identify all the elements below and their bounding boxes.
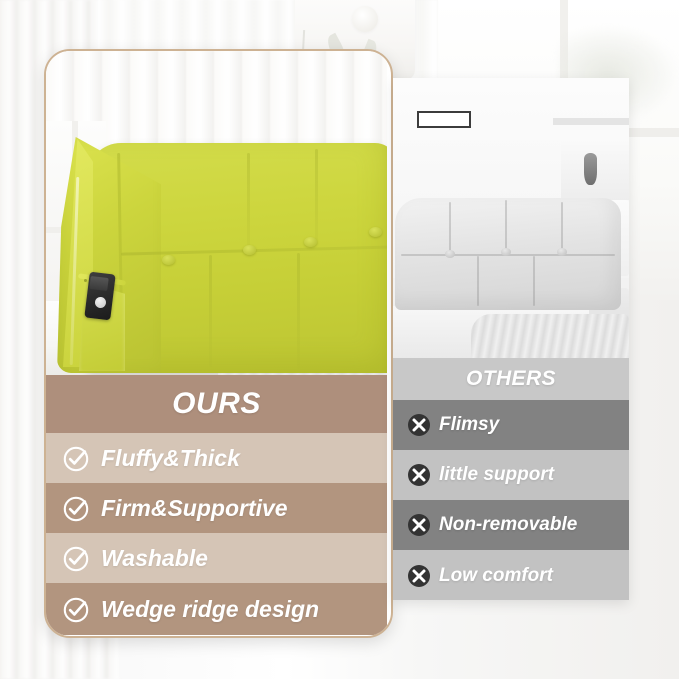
check-circle-icon bbox=[63, 596, 90, 623]
ours-feature-label: Fluffy&Thick bbox=[101, 445, 240, 472]
pillow-tuft-button bbox=[243, 245, 256, 255]
others-photo-throw-blanket bbox=[471, 314, 629, 358]
others-pillow-seam bbox=[477, 256, 479, 306]
others-feature-table: OTHERS Flimsy little s bbox=[393, 358, 629, 600]
ours-title: OURS bbox=[172, 387, 261, 421]
others-header-row: OTHERS bbox=[393, 358, 629, 400]
remote-led bbox=[84, 279, 87, 282]
others-pillow-seam bbox=[561, 202, 563, 254]
others-feature-row-2: little support bbox=[393, 450, 629, 500]
others-pillow-tuft-button bbox=[501, 248, 511, 256]
ours-header-row: OURS bbox=[46, 375, 387, 433]
pillow-seam-vertical bbox=[209, 255, 212, 367]
others-pillow-seam bbox=[449, 202, 451, 254]
others-feature-row-4: Low comfort bbox=[393, 550, 629, 600]
ours-card: OURS Fluffy&Thick Firm bbox=[44, 49, 393, 638]
ours-feature-row-4: Wedge ridge design bbox=[46, 583, 387, 635]
others-product-photo bbox=[393, 78, 629, 358]
others-feature-label: little support bbox=[439, 464, 554, 486]
x-circle-icon bbox=[407, 513, 431, 537]
check-circle-icon bbox=[63, 445, 90, 472]
ours-feature-table: OURS Fluffy&Thick Firm bbox=[46, 375, 387, 635]
others-pillow-seam bbox=[505, 200, 507, 254]
others-feature-label: Non-removable bbox=[439, 514, 577, 536]
pillow-seam-vertical bbox=[297, 253, 300, 369]
check-circle-icon bbox=[63, 495, 90, 522]
others-feature-label: Flimsy bbox=[439, 414, 499, 436]
others-photo-vase bbox=[584, 153, 597, 185]
x-circle-icon bbox=[407, 463, 431, 487]
pillow-seam-vertical bbox=[315, 149, 318, 245]
ours-feature-row-1: Fluffy&Thick bbox=[46, 433, 387, 483]
remote-screen bbox=[89, 276, 108, 291]
ours-feature-label: Firm&Supportive bbox=[101, 495, 288, 522]
ours-wedge-pillow bbox=[57, 127, 387, 375]
pillow-seam-vertical bbox=[247, 153, 250, 249]
ours-feature-row-2: Firm&Supportive bbox=[46, 483, 387, 533]
others-photo-picture-frame bbox=[417, 111, 471, 128]
others-feature-label: Low comfort bbox=[439, 565, 553, 587]
x-circle-icon bbox=[407, 564, 431, 588]
others-pillow-seam bbox=[533, 256, 535, 306]
check-circle-icon bbox=[63, 545, 90, 572]
others-pillow-tuft-button bbox=[557, 248, 567, 256]
others-title: OTHERS bbox=[466, 367, 556, 391]
x-circle-icon bbox=[407, 413, 431, 437]
pillow-tuft-button bbox=[162, 255, 175, 265]
others-photo-shelf bbox=[553, 118, 629, 125]
pillow-tuft-button bbox=[304, 237, 317, 247]
flower-icon bbox=[352, 6, 378, 32]
ours-product-photo bbox=[46, 51, 387, 375]
others-pillow-tuft-button bbox=[445, 250, 455, 258]
ours-feature-label: Washable bbox=[101, 545, 208, 572]
others-feature-row-1: Flimsy bbox=[393, 400, 629, 450]
ours-feature-row-3: Washable bbox=[46, 533, 387, 583]
pillow-tuft-button bbox=[369, 227, 382, 237]
ours-feature-label: Wedge ridge design bbox=[101, 596, 319, 623]
others-feature-row-3: Non-removable bbox=[393, 500, 629, 550]
comparison-infographic: OURS Fluffy&Thick Firm bbox=[0, 0, 679, 679]
others-card: OTHERS Flimsy little s bbox=[393, 78, 629, 600]
